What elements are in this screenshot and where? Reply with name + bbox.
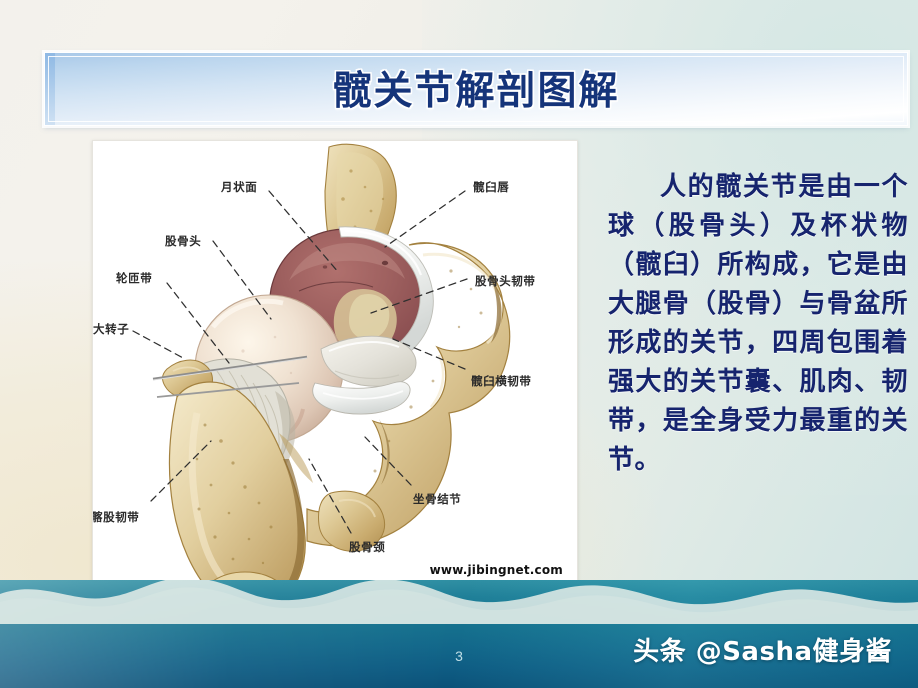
leader-greater-trochanter (133, 331, 185, 359)
wave-crest-foam (0, 580, 918, 624)
anatomy-label-lunate-surface: 月状面 (221, 179, 257, 195)
anatomy-label-acetabular-labrum: 髋臼唇 (473, 179, 509, 195)
figure-source-watermark: www.jibingnet.com (430, 563, 563, 577)
page-number: 3 (0, 648, 918, 664)
page-title: 髋关节解剖图解 (45, 60, 907, 116)
anatomy-label-femoral-head: 股骨头 (165, 233, 201, 249)
anatomy-label-ischial-tuberosity: 坐骨结节 (413, 491, 461, 507)
anatomy-label-zona-orbicularis: 轮匝带 (116, 270, 152, 286)
anatomy-label-ligament-of-femoral-head: 股骨头韧带 (475, 273, 536, 289)
body-paragraph: 人的髋关节是由一个球（股骨头）及杯状物（髋臼）所构成，它是由大腿骨（股骨）与骨盆… (608, 168, 908, 480)
bottom-wave-band: 头条 @Sasha健身酱 3 (0, 580, 918, 688)
leader-acetabular-labrum (385, 191, 465, 247)
anatomy-label-femoral-neck: 股骨颈 (349, 539, 385, 555)
anatomy-label-iliofemoral-ligament: 髂股韧带 (92, 509, 139, 525)
slide-title-bar: 髋关节解剖图解 (44, 52, 908, 126)
slide-canvas: 髋关节解剖图解 (0, 0, 918, 688)
anatomy-figure-panel: 月状面髋臼唇股骨头轮匝带股骨头韧带大转子髋臼横韧带髂股韧带坐骨结节股骨颈 www… (92, 140, 578, 614)
anatomy-label-greater-trochanter: 大转子 (93, 321, 129, 337)
anatomy-label-transverse-acetabular-lig: 髋臼横韧带 (471, 373, 532, 389)
